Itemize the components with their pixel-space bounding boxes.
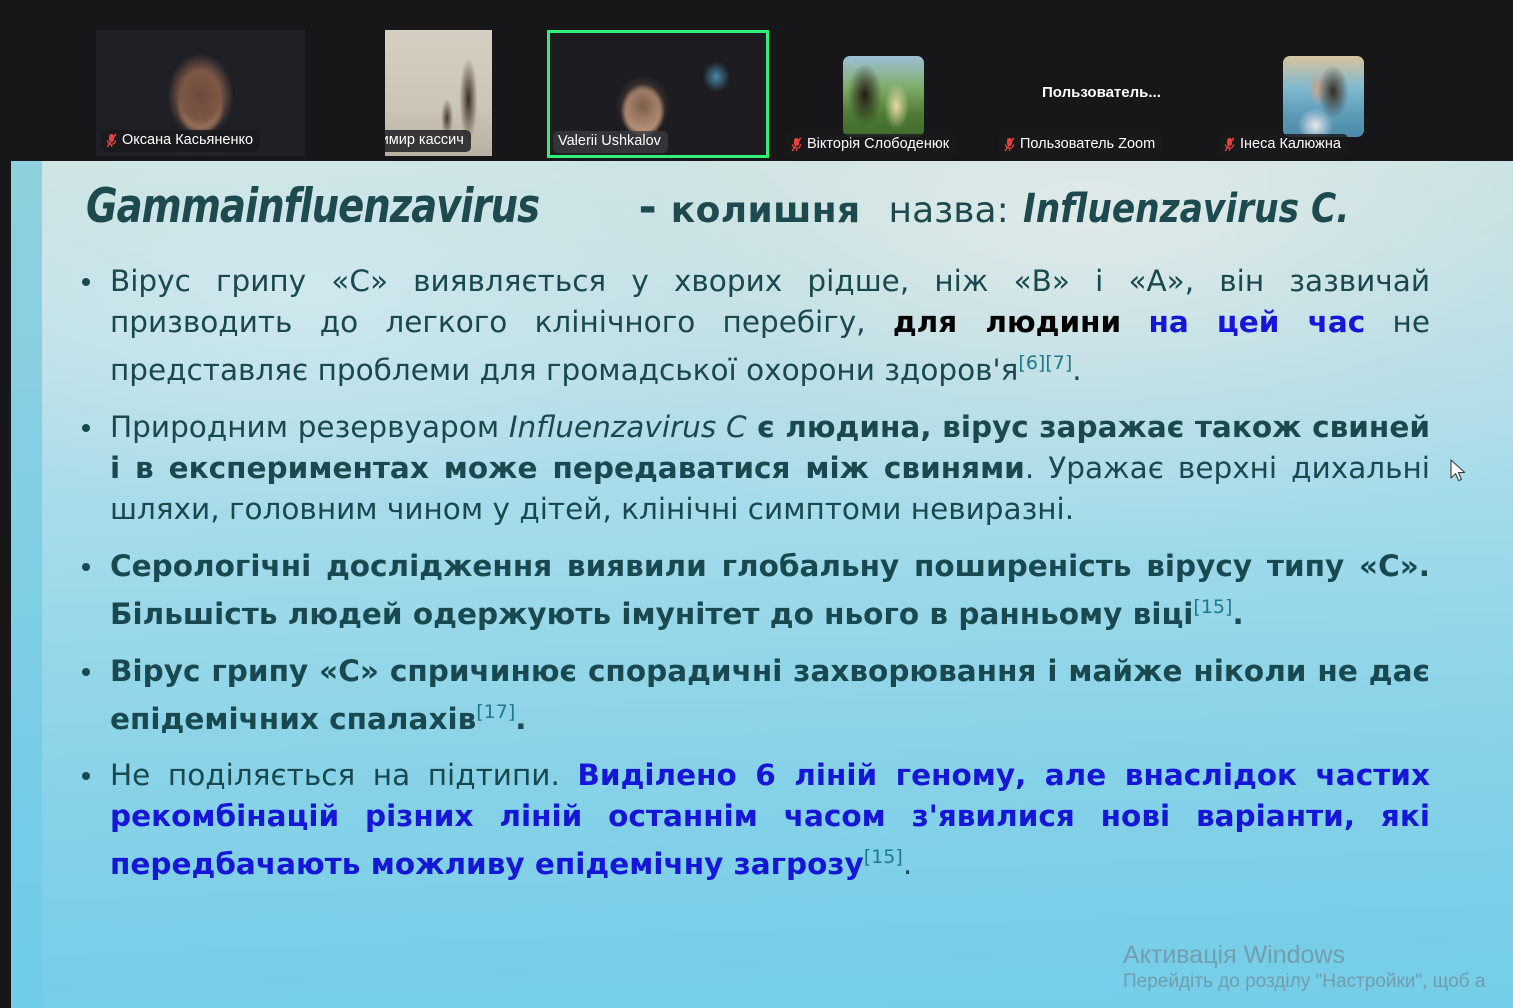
- bullet-3-reference[interactable]: [15]: [1193, 596, 1232, 618]
- bullet-1-seg-6: .: [1072, 353, 1081, 387]
- slide-bullet-4: Вірус грипу «С» спричинює спорадичні зах…: [70, 651, 1430, 740]
- video-feed-viktoriia: [843, 56, 924, 137]
- slide-title-cyrillic-bold: колишня: [671, 190, 861, 231]
- name-chip-vladimir: Владимир кассич: [385, 130, 471, 152]
- slide-bullet-list: Вірус грипу «С» виявляється у хворих рід…: [70, 261, 1430, 901]
- mic-muted-icon: [106, 133, 117, 148]
- bullet-4-seg-2: .: [515, 701, 526, 735]
- participant-tile-viktoriia[interactable]: [843, 56, 924, 137]
- bullet-5-reference[interactable]: [15]: [864, 846, 903, 868]
- bullet-2-seg-0: Природним резервуаром: [110, 410, 509, 444]
- participant-placeholder-label-zoom-user: Пользователь...: [1042, 84, 1161, 102]
- bullet-4-reference[interactable]: [17]: [476, 701, 515, 723]
- bullet-1-reference[interactable]: [6][7]: [1018, 352, 1072, 374]
- bullet-4-seg-0: Вірус грипу «С» спричинює спорадичні зах…: [110, 654, 1430, 736]
- bullet-1-seg-3: на цей час: [1148, 305, 1365, 339]
- slide-left-accent-band: [11, 161, 42, 1008]
- bullet-1-seg-1: для людини: [893, 305, 1121, 339]
- slide-title: Gammainfluenzavirus- колишня назва: Infl…: [86, 179, 1416, 239]
- mic-muted-icon: [1004, 137, 1015, 152]
- slide-title-cyrillic-rest: назва:: [889, 190, 1009, 231]
- participant-name: Вікторія Слободенюк: [807, 136, 949, 153]
- name-chip-inesa: Інеса Калюжна: [1219, 134, 1348, 156]
- participant-name: Valerii Ushkalov: [558, 133, 661, 150]
- participant-name: Владимир кассич: [385, 132, 464, 149]
- bullet-5-seg-3: .: [903, 847, 912, 881]
- name-chip-zoom-user: Пользователь Zoom: [999, 134, 1162, 156]
- bullet-5-seg-0: Не поділяється на підтипи.: [110, 758, 577, 792]
- slide-bullet-5: Не поділяється на підтипи. Виділено 6 лі…: [70, 755, 1430, 885]
- name-chip-viktoriia: Вікторія Слободенюк: [786, 134, 956, 156]
- name-chip-valerii: Valerii Ushkalov: [553, 131, 668, 153]
- participant-tile-vladimir[interactable]: Владимир кассич: [385, 30, 492, 156]
- slide-dark-edge: [0, 161, 11, 1008]
- slide-title-former-name: Influenzavirus C.: [1023, 181, 1349, 237]
- slide-bullet-3: Серологічні дослідження виявили глобальн…: [70, 546, 1430, 635]
- participant-tile-valerii[interactable]: Valerii Ushkalov: [547, 30, 769, 158]
- name-chip-oksana: Оксана Касьяненко: [101, 130, 260, 152]
- slide-bullet-1: Вірус грипу «С» виявляється у хворих рід…: [70, 261, 1430, 391]
- slide-bullet-2: Природним резервуаром Influenzavirus C є…: [70, 407, 1430, 530]
- mic-muted-icon: [791, 137, 802, 152]
- slide-title-dash: -: [639, 182, 657, 233]
- bullet-2-species-name: Influenzavirus C: [509, 410, 747, 444]
- participant-name: Оксана Касьяненко: [122, 132, 253, 149]
- bullet-1-seg-2: [1121, 305, 1148, 339]
- bullet-3-seg-2: .: [1232, 597, 1243, 631]
- participant-name: Пользователь Zoom: [1020, 136, 1155, 153]
- slide-title-latin-name: Gammainfluenzavirus: [86, 179, 539, 235]
- mic-muted-icon: [1224, 137, 1235, 152]
- participant-tile-oksana[interactable]: Оксана Касьяненко: [96, 30, 305, 156]
- participant-name: Інеса Калюжна: [1240, 136, 1341, 153]
- video-feed-inesa: [1283, 56, 1364, 137]
- shared-slide-content: Gammainfluenzavirus- колишня назва: Infl…: [0, 161, 1513, 1008]
- participant-tile-inesa[interactable]: [1283, 56, 1364, 137]
- participant-filmstrip: Оксана Касьяненко Владимир кассич: [0, 0, 1513, 161]
- zoom-screen-share-window: Оксана Касьяненко Владимир кассич: [0, 0, 1513, 1008]
